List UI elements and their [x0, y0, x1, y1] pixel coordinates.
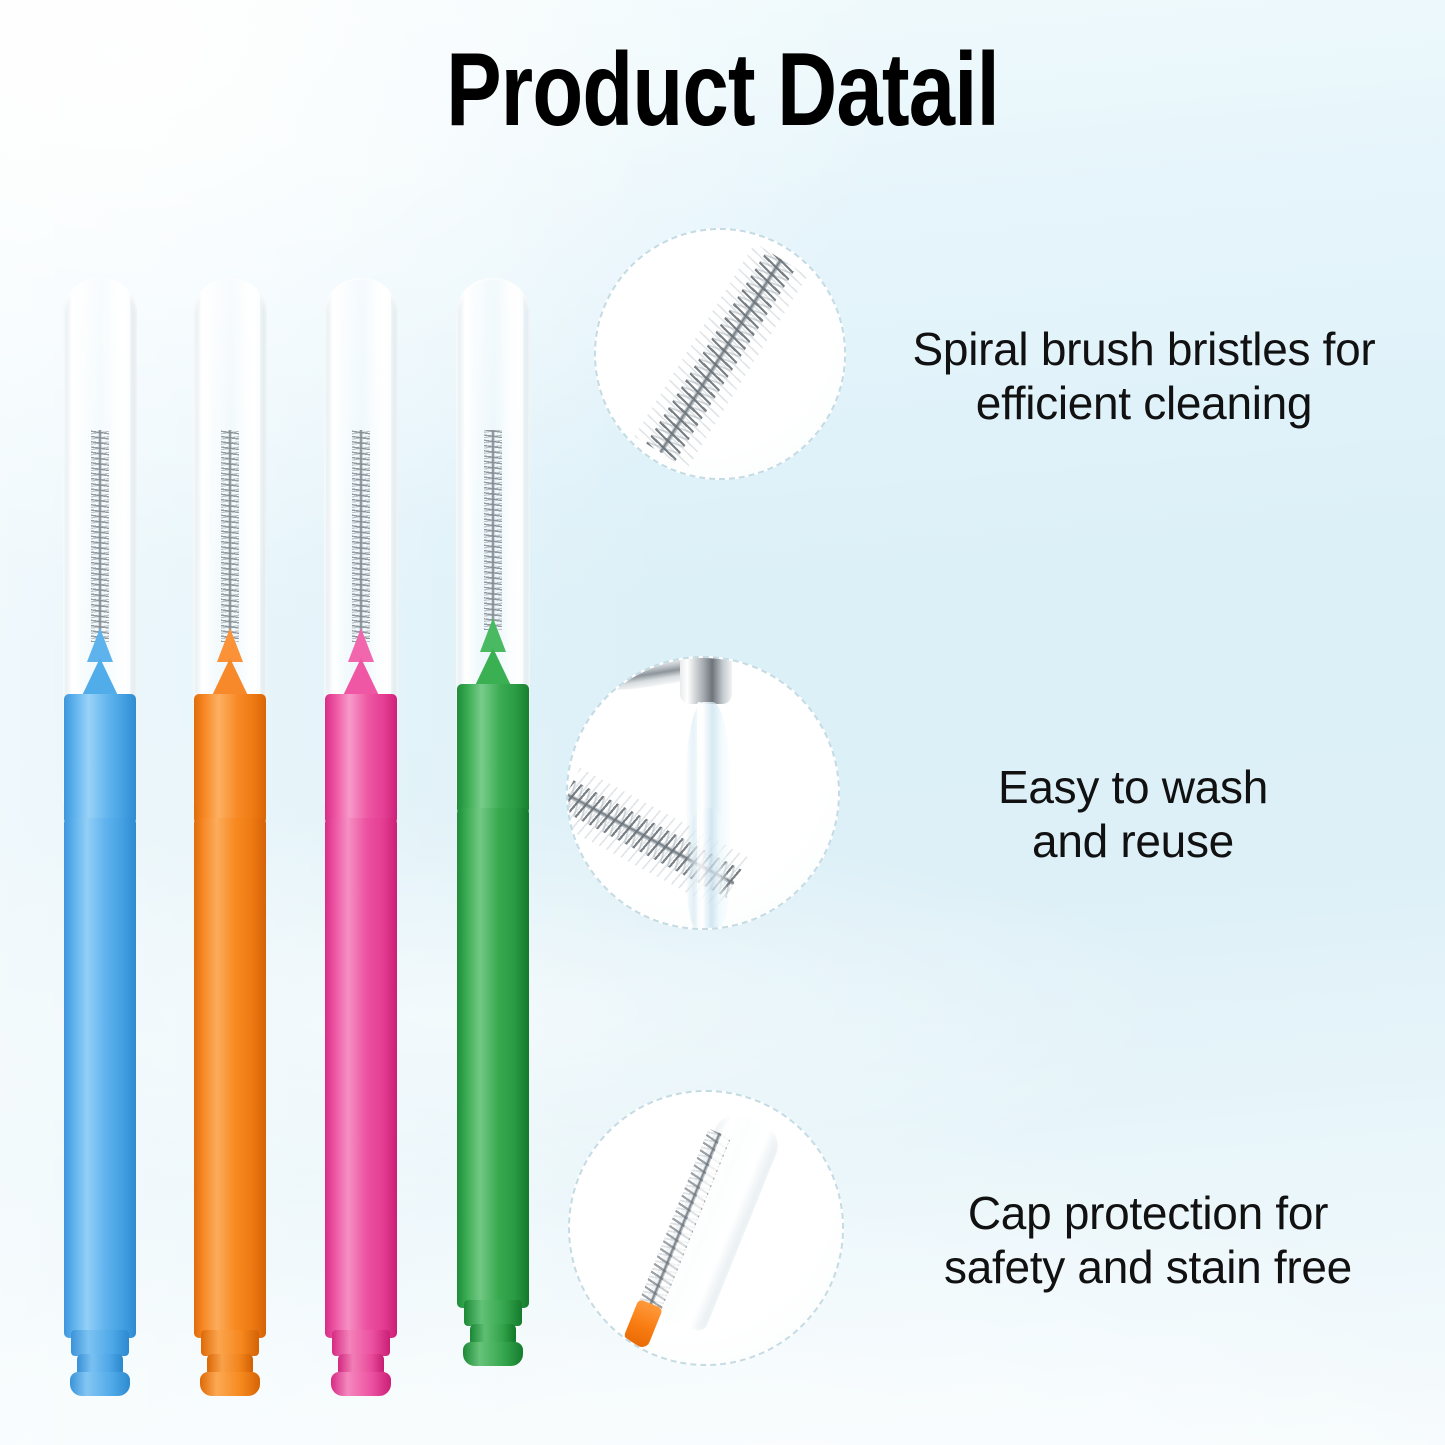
brush-foot-pink	[301, 1330, 421, 1400]
caption-line-1: Easy to wash	[900, 760, 1366, 814]
brush-foot-orange	[170, 1330, 290, 1400]
product-detail-page: Product Datail	[0, 0, 1445, 1445]
feature-caption-spiral-bristles: Spiral brush bristles for efficient clea…	[855, 322, 1433, 431]
bristle-fuzz	[484, 430, 502, 630]
orange-handle-tip	[622, 1299, 663, 1350]
bristle-fuzz	[352, 430, 370, 642]
brush-handle-orange	[194, 818, 266, 1338]
caption-line-2: safety and stain free	[886, 1240, 1410, 1294]
spiral-bristles-orange	[221, 430, 239, 642]
bristle-fuzz	[91, 430, 109, 642]
brush-neck-pink	[339, 628, 383, 700]
spiral-bristles-pink	[352, 430, 370, 642]
brush-neck-green	[471, 618, 515, 690]
caption-line-1: Spiral brush bristles for	[855, 322, 1433, 376]
caption-line-2: and reuse	[900, 814, 1366, 868]
faucet-head	[680, 658, 732, 704]
brush-handle-pink	[325, 818, 397, 1338]
brush-neck-orange	[208, 628, 252, 700]
feature-image-easy-wash	[566, 656, 840, 930]
page-title: Product Datail	[145, 36, 1301, 145]
brush-foot-blue	[40, 1330, 160, 1400]
circle-background	[570, 1092, 842, 1364]
brush-handle-green	[457, 808, 529, 1308]
caption-line-2: efficient cleaning	[855, 376, 1433, 430]
feature-caption-easy-wash: Easy to wash and reuse	[900, 760, 1366, 869]
feature-caption-cap-protection: Cap protection for safety and stain free	[886, 1186, 1410, 1295]
spiral-brush-closeup-icon	[646, 250, 796, 461]
brush-handle-blue	[64, 818, 136, 1338]
bristle-fuzz	[221, 430, 239, 642]
feature-image-spiral-bristles	[594, 228, 846, 480]
circle-background	[596, 230, 844, 478]
water-splash	[687, 808, 727, 928]
capped-brush-closeup	[577, 1092, 808, 1364]
faucet-icon	[594, 658, 744, 710]
brush-upper-barrel-blue	[64, 694, 136, 824]
brush-upper-barrel-pink	[325, 694, 397, 824]
brush-neck-blue	[78, 628, 122, 700]
caption-line-1: Cap protection for	[886, 1186, 1410, 1240]
brush-foot-green	[433, 1300, 553, 1370]
circle-background	[568, 658, 838, 928]
spiral-bristles-blue	[91, 430, 109, 642]
spiral-bristles-green	[484, 430, 502, 630]
bristle-fuzz	[646, 250, 796, 461]
brush-upper-barrel-orange	[194, 694, 266, 824]
feature-image-cap-protection	[568, 1090, 844, 1366]
brush-upper-barrel-green	[457, 684, 529, 814]
